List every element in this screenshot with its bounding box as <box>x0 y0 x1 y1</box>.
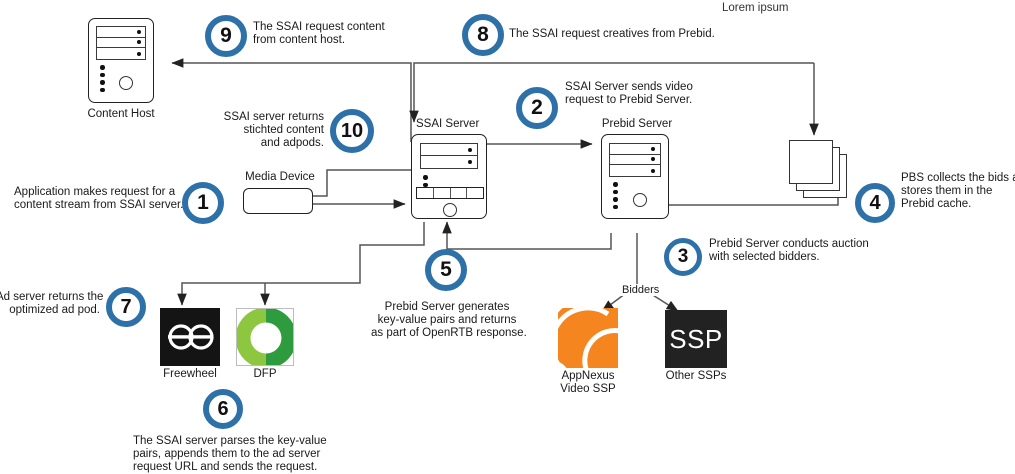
server-tower-icon <box>411 134 487 219</box>
step-10-line-1: SSAI server returns <box>196 111 324 124</box>
step-badge-8-number: 8 <box>477 23 489 47</box>
label-appnexus-line2: Video SSP <box>544 383 632 396</box>
step-badge-2-number: 2 <box>531 96 543 120</box>
step-4-line-3: Prebid cache. <box>901 198 1015 211</box>
step-badge-2[interactable]: 2 <box>516 87 558 129</box>
status-dots <box>613 182 618 209</box>
wire-prebid-to-ssai-bottom <box>447 222 611 249</box>
step-badge-5[interactable]: 5 <box>425 249 467 291</box>
dfp-logo-icon <box>236 308 294 366</box>
label-content-host: Content Host <box>72 108 170 121</box>
appnexus-glyph <box>558 308 618 368</box>
document-stack-icon <box>789 140 833 184</box>
server-tower-icon <box>601 134 669 219</box>
step-4-line-1: PBS collects the bids and <box>901 172 1015 185</box>
step-4-line-2: stores them in the <box>901 185 1015 198</box>
label-other-ssps: Other SSPs <box>651 370 741 383</box>
step-badge-10-number: 10 <box>341 120 363 143</box>
step-badge-5-number: 5 <box>440 258 452 282</box>
step-1-line-1: Application makes request for a <box>14 186 174 199</box>
power-button-icon[interactable] <box>443 203 457 217</box>
step-badge-9-number: 9 <box>220 24 232 48</box>
diagram-canvas: Lorem ipsum Content Host <box>0 0 1015 473</box>
label-freewheel: Freewheel <box>148 368 232 381</box>
step-badge-4-number: 4 <box>869 192 880 215</box>
step-badge-7[interactable]: 7 <box>106 287 146 327</box>
step-6-line-1: The SSAI server parses the key-value <box>133 435 313 448</box>
step-3-line-2: with selected bidders. <box>709 251 969 264</box>
step-5-line-3: as part of OpenRTB response. <box>371 327 523 340</box>
step-3-line-1: Prebid Server conducts auction <box>709 238 969 251</box>
freewheel-glyph <box>160 308 220 366</box>
step-badge-6[interactable]: 6 <box>203 389 243 429</box>
step-badge-8[interactable]: 8 <box>462 14 504 56</box>
step-9-line-1: The SSAI request content <box>253 21 453 34</box>
dfp-glyph <box>237 309 294 366</box>
status-dots <box>423 175 428 187</box>
media-device-icon <box>243 188 313 214</box>
ssp-logo-text: SSP <box>669 324 723 355</box>
step-badge-1[interactable]: 1 <box>182 182 224 224</box>
step-6-line-2: pairs, appends them to the ad server <box>133 448 313 461</box>
step-badge-6-number: 6 <box>217 398 228 421</box>
step-7-line-1: Ad server returns the <box>0 291 100 304</box>
step-6-line-3: request URL and sends the request. <box>133 461 313 474</box>
status-dots <box>100 65 105 92</box>
label-appnexus-line1: AppNexus <box>544 370 632 383</box>
step-7-line-2: optimized ad pod. <box>0 304 100 317</box>
step-badge-10[interactable]: 10 <box>330 109 374 153</box>
label-dfp: DFP <box>227 368 303 381</box>
step-badge-9[interactable]: 9 <box>205 15 247 57</box>
ssp-logo-icon: SSP <box>665 310 727 368</box>
step-2-line-2: request to Prebid Server. <box>565 94 785 107</box>
server-tower-icon <box>88 18 154 103</box>
step-5-line-2: key-value pairs and returns <box>371 314 523 327</box>
step-10-line-3: and adpods. <box>196 137 324 150</box>
step-badge-3[interactable]: 3 <box>664 238 702 276</box>
appnexus-logo-icon <box>558 308 618 368</box>
label-prebid-server: Prebid Server <box>598 118 676 131</box>
label-ssai-server: SSAI Server <box>416 118 496 131</box>
wire-ssai-to-adservers-freewheel <box>182 222 424 305</box>
step-5-line-1: Prebid Server generates <box>371 301 523 314</box>
step-2-line-1: SSAI Server sends video <box>565 81 785 94</box>
step-badge-3-number: 3 <box>678 246 689 268</box>
step-badge-4[interactable]: 4 <box>855 183 895 223</box>
freewheel-logo-icon <box>160 308 220 366</box>
step-8-line-1: The SSAI request creatives from Prebid. <box>509 28 759 41</box>
step-10-line-2: stichted content <box>196 124 324 137</box>
power-button-icon[interactable] <box>119 76 133 90</box>
slot-bar <box>416 187 484 199</box>
step-badge-1-number: 1 <box>197 191 209 215</box>
power-button-icon[interactable] <box>633 193 647 207</box>
step-1-line-2: content stream from SSAI server. <box>14 199 174 212</box>
top-note-lorem: Lorem ipsum <box>722 2 788 14</box>
label-bidders: Bidders <box>620 284 661 296</box>
step-9-line-2: from content host. <box>253 34 453 47</box>
label-media-device: Media Device <box>241 171 319 184</box>
step-badge-7-number: 7 <box>120 296 131 319</box>
